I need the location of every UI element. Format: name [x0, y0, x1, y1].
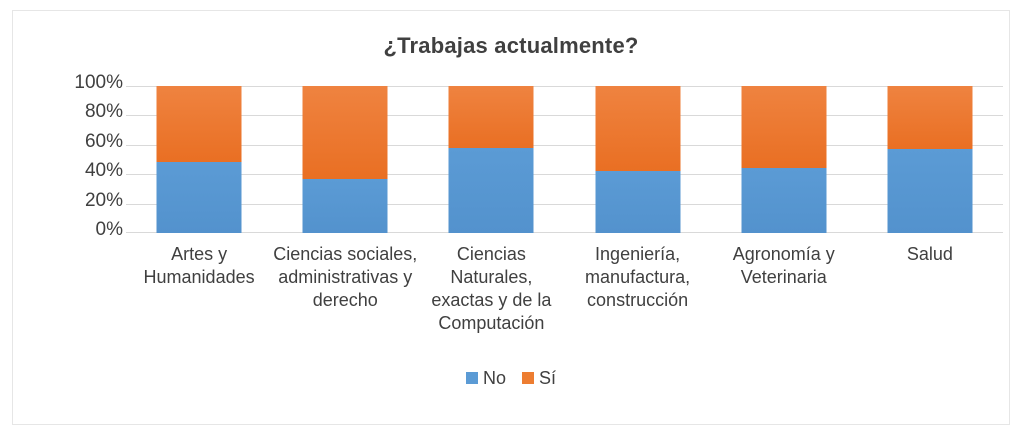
bar-segment-si[interactable]: [887, 86, 972, 149]
bar-segment-no[interactable]: [303, 179, 388, 233]
bar-group[interactable]: [272, 86, 418, 233]
y-axis-tick-label: 60%: [25, 132, 123, 151]
bar-stack[interactable]: [595, 86, 680, 233]
bar-group[interactable]: [711, 86, 857, 233]
bar-segment-si[interactable]: [595, 86, 680, 171]
bar-group[interactable]: [126, 86, 272, 233]
bar-segment-no[interactable]: [887, 149, 972, 233]
x-axis-category-label: Artes y Humanidades: [126, 243, 272, 289]
x-axis-category-label: Salud: [857, 243, 1003, 266]
bars-layer: [126, 86, 1003, 233]
y-axis-tick-label: 100%: [25, 73, 123, 92]
legend-item[interactable]: Sí: [522, 369, 556, 387]
bar-group[interactable]: [857, 86, 1003, 233]
bar-segment-no[interactable]: [157, 162, 242, 233]
y-axis-tick-label: 80%: [25, 102, 123, 121]
bar-stack[interactable]: [303, 86, 388, 233]
bar-segment-si[interactable]: [157, 86, 242, 162]
legend-swatch-icon: [466, 372, 478, 384]
bar-segment-no[interactable]: [449, 148, 534, 233]
y-axis-tick-label: 40%: [25, 161, 123, 180]
y-axis-tick-label: 0%: [25, 220, 123, 239]
x-axis-category-label: Ingeniería, manufactura, construcción: [565, 243, 711, 312]
legend-item[interactable]: No: [466, 369, 506, 387]
chart-title: ¿Trabajas actualmente?: [13, 33, 1009, 59]
legend-swatch-icon: [522, 372, 534, 384]
bar-segment-no[interactable]: [595, 171, 680, 233]
legend-label: No: [483, 369, 506, 387]
x-axis-category-label: Ciencias Naturales, exactas y de la Comp…: [418, 243, 564, 335]
bar-stack[interactable]: [887, 86, 972, 233]
x-axis-category-label: Ciencias sociales, administrativas y der…: [272, 243, 418, 312]
bar-group[interactable]: [418, 86, 564, 233]
bar-group[interactable]: [565, 86, 711, 233]
legend-label: Sí: [539, 369, 556, 387]
bar-stack[interactable]: [157, 86, 242, 233]
bar-stack[interactable]: [449, 86, 534, 233]
bar-segment-si[interactable]: [741, 86, 826, 168]
bar-segment-si[interactable]: [303, 86, 388, 179]
chart-container[interactable]: ¿Trabajas actualmente? 100% 80% 60% 40% …: [12, 10, 1010, 425]
bar-stack[interactable]: [741, 86, 826, 233]
y-axis-tick-label: 20%: [25, 191, 123, 210]
x-axis-category-label: Agronomía y Veterinaria: [711, 243, 857, 289]
bar-segment-si[interactable]: [449, 86, 534, 148]
x-axis: Artes y HumanidadesCiencias sociales, ad…: [126, 243, 1003, 353]
chart-legend[interactable]: NoSí: [13, 369, 1009, 387]
y-axis: 100% 80% 60% 40% 20% 0%: [25, 73, 123, 248]
bar-segment-no[interactable]: [741, 168, 826, 233]
